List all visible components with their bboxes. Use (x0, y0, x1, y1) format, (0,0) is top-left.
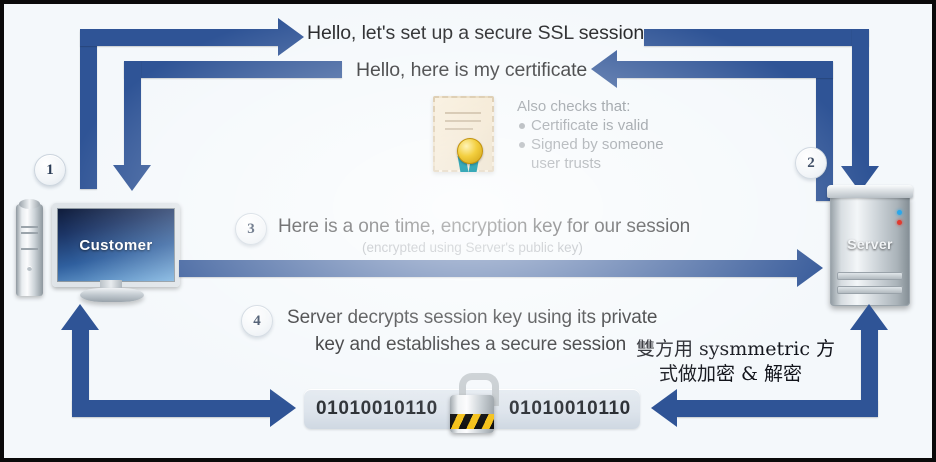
secure-loop-right-up-head (850, 304, 888, 330)
step2-arrow-left-stem (124, 61, 141, 173)
step1-message: Hello, let's set up a secure SSL session (307, 22, 644, 45)
step-badge-3: 3 (235, 213, 267, 245)
check-item-0: Certificate is valid (517, 116, 664, 135)
step-badge-4: 4 (241, 305, 273, 337)
pc-tower-icon (16, 204, 43, 296)
customer-monitor-icon: Customer (52, 203, 180, 287)
step3-message: Here is a one time, encryption key for o… (278, 216, 690, 238)
binary-right-text: 01010010110 (509, 398, 631, 420)
secure-loop-bottom-left-segment (72, 400, 272, 417)
annotation-line1: 雙方用 sysmmetric 方 (636, 337, 835, 362)
step1-arrow-top-segment (80, 29, 280, 46)
step3-arrow-shaft (179, 260, 799, 277)
step1-arrowhead (278, 18, 304, 56)
binary-left-text: 01010010110 (316, 398, 438, 420)
step4-message-line2: key and establishes a secure session (315, 334, 626, 356)
ssl-handshake-diagram: Hello, let's set up a secure SSL session… (0, 0, 936, 462)
check-item-1: Signed by someone (517, 135, 664, 154)
step3-subtext: (encrypted using Server's public key) (362, 240, 583, 255)
secure-loop-bottom-right-segment (677, 400, 878, 417)
step2-arrow-down-head (113, 165, 151, 191)
step2-arrowhead (591, 50, 617, 88)
step2-message: Hello, here is my certificate (356, 59, 587, 82)
customer-label: Customer (79, 237, 152, 254)
server-tower-icon: Server (830, 194, 910, 306)
padlock-icon (446, 373, 498, 435)
step1-arrow-right-stem (852, 29, 869, 174)
step-badge-2: 2 (795, 147, 827, 179)
step4-message-line1: Server decrypts session key using its pr… (287, 307, 657, 329)
step2-arrow-left-segment (124, 61, 342, 78)
step1-arrow-right-segment (644, 29, 869, 46)
secure-loop-right-arrowhead (651, 389, 677, 427)
step-badge-1: 1 (34, 154, 66, 186)
certificate-seal-icon (433, 96, 494, 172)
step2-arrow-right-stem (816, 61, 833, 201)
step3-arrowhead (797, 249, 823, 287)
monitor-base (80, 288, 144, 302)
secure-loop-left-arrowhead (270, 389, 296, 427)
certificate-checks-list: Also checks that: Certificate is valid S… (517, 97, 664, 173)
step1-arrow-left-stem (80, 29, 97, 189)
check-item-2: user trusts (517, 154, 664, 173)
server-label: Server (830, 236, 910, 252)
step2-arrow-top-right-segment (616, 61, 833, 78)
checks-title: Also checks that: (517, 97, 664, 116)
annotation-line2: 式做加密 & 解密 (659, 362, 802, 387)
secure-loop-left-up-head (61, 304, 99, 330)
